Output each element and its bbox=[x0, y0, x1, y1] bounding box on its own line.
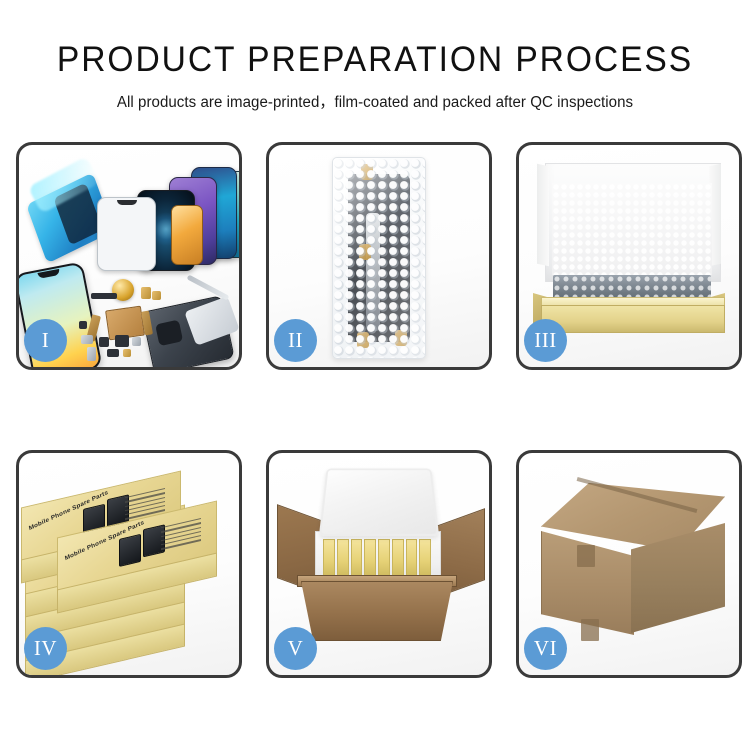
kraft-box-front bbox=[541, 305, 725, 333]
tweezers-icon bbox=[187, 274, 230, 300]
labelled-box-front: Mobile Phone Spare Parts bbox=[57, 519, 215, 623]
step-badge-6: VI bbox=[524, 627, 567, 670]
step-badge-5: V bbox=[274, 627, 317, 670]
inner-foam-lining bbox=[552, 183, 712, 275]
spare-part bbox=[91, 293, 117, 299]
spare-part bbox=[87, 347, 96, 361]
step-panel-6[interactable]: VI bbox=[516, 450, 742, 678]
camera-module bbox=[115, 335, 129, 347]
process-step-grid: I II bbox=[16, 142, 742, 678]
carton-tape bbox=[581, 619, 599, 641]
carton-tape bbox=[577, 545, 595, 567]
spare-part bbox=[152, 291, 161, 300]
page-title: PRODUCT PREPARATION PROCESS bbox=[15, 0, 735, 80]
lid-left-flap bbox=[537, 164, 549, 267]
page-header: PRODUCT PREPARATION PROCESS All products… bbox=[0, 0, 750, 112]
step-panel-3[interactable]: III bbox=[516, 142, 742, 370]
spare-part bbox=[79, 321, 87, 329]
step-badge-4: IV bbox=[24, 627, 67, 670]
spare-part bbox=[132, 337, 141, 346]
carton-front bbox=[301, 581, 453, 641]
label-phone-thumbnail bbox=[119, 534, 141, 567]
spare-part bbox=[99, 337, 109, 347]
yellow-boxes-inside bbox=[323, 539, 431, 579]
step-badge-1: I bbox=[24, 319, 67, 362]
bubble-wrap-bag bbox=[332, 157, 426, 359]
step-badge-3: III bbox=[524, 319, 567, 362]
page-subtitle: All products are image-printed，film-coat… bbox=[6, 80, 745, 112]
spare-part bbox=[107, 349, 119, 357]
plastic-sheen bbox=[333, 158, 425, 358]
label-spec-lines bbox=[161, 518, 201, 557]
phone-gold bbox=[171, 205, 203, 265]
step-panel-5[interactable]: V bbox=[266, 450, 492, 678]
tempered-glass-protector bbox=[97, 197, 156, 271]
spare-part bbox=[123, 349, 131, 357]
step-panel-2[interactable]: II bbox=[266, 142, 492, 370]
step-badge-2: II bbox=[274, 319, 317, 362]
step-panel-4[interactable]: Mobile Phone Spare Parts Mobile Phone Sp… bbox=[16, 450, 242, 678]
spare-part bbox=[141, 287, 151, 299]
step-panel-1[interactable]: I bbox=[16, 142, 242, 370]
foam-box-lid bbox=[319, 469, 439, 537]
spare-part bbox=[81, 335, 93, 344]
